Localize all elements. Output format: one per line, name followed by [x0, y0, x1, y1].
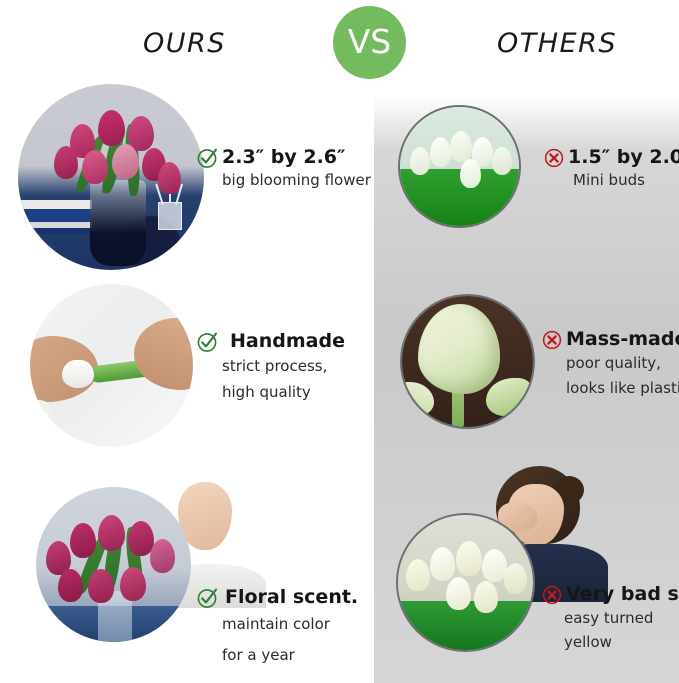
petal-side-right	[486, 378, 532, 416]
white-tulip-bud	[62, 360, 94, 388]
others-subline-row1-0: Mini buds	[573, 169, 679, 191]
others-photo-row3	[398, 515, 533, 650]
check-circle-icon	[197, 587, 219, 609]
others-callout-row1: 1.5″ by 2.0″ Mini buds	[543, 146, 679, 191]
check-circle-icon	[197, 147, 219, 169]
cross-circle-icon	[541, 584, 563, 606]
vs-label: VS	[348, 25, 392, 58]
vs-badge: VS	[333, 6, 406, 79]
spare-bud	[30, 400, 52, 424]
ours-callout-row3: Floral scent. maintain color for a year	[197, 586, 358, 671]
wrinkled-petal	[418, 304, 500, 394]
ours-callout-row1: 2.3″ by 2.6″ big blooming flower	[197, 146, 371, 191]
others-headline-row2: Mass-made	[566, 328, 679, 350]
others-photo-row2	[402, 296, 533, 427]
others-subline-row3-0: easy turned	[564, 606, 679, 630]
others-subline-row2-0: poor quality,	[566, 351, 679, 376]
ours-photo-row3	[36, 487, 191, 642]
diffuser-prop	[158, 202, 182, 230]
others-callout-row3: Very bad smell easy turned yellow	[541, 583, 679, 654]
check-circle-icon	[197, 331, 219, 353]
cross-circle-icon	[543, 147, 565, 169]
others-callout-row2: Mass-made poor quality, looks like plast…	[541, 328, 679, 401]
comparison-infographic: OURS VS OTHERS	[0, 0, 679, 683]
ours-subline-row2-0: strict process,	[222, 353, 345, 379]
petal-side-left	[402, 382, 434, 416]
others-subline-row2-1: looks like plastic	[566, 376, 679, 401]
ours-headline-row2: Handmade	[230, 330, 345, 352]
header: OURS VS OTHERS	[0, 0, 679, 92]
ours-photo-row1	[18, 84, 204, 270]
ours-subline-row3-0: maintain color	[222, 609, 358, 640]
ours-headline-row1: 2.3″ by 2.6″	[222, 146, 346, 168]
leaf-bed	[398, 601, 533, 650]
books-prop	[20, 200, 92, 234]
others-subline-row3-1: yellow	[564, 630, 679, 654]
ours-subline-row3-1: for a year	[222, 640, 358, 671]
others-headline-row3: Very bad smell	[566, 583, 679, 605]
vase-prop	[90, 180, 146, 266]
ours-callout-row2: Handmade strict process, high quality	[197, 330, 345, 405]
ours-title: OURS	[143, 28, 226, 59]
ours-subline-row2-1: high quality	[222, 379, 345, 405]
others-headline-row1: 1.5″ by 2.0″	[568, 146, 679, 168]
hand-right	[134, 318, 193, 390]
others-photo-row1	[400, 107, 519, 226]
ours-headline-row3: Floral scent.	[225, 586, 358, 608]
ours-subline-row1-0: big blooming flower	[222, 169, 371, 191]
others-title: OTHERS	[497, 28, 617, 59]
ours-photo-row2	[30, 284, 193, 447]
cross-circle-icon	[541, 329, 563, 351]
